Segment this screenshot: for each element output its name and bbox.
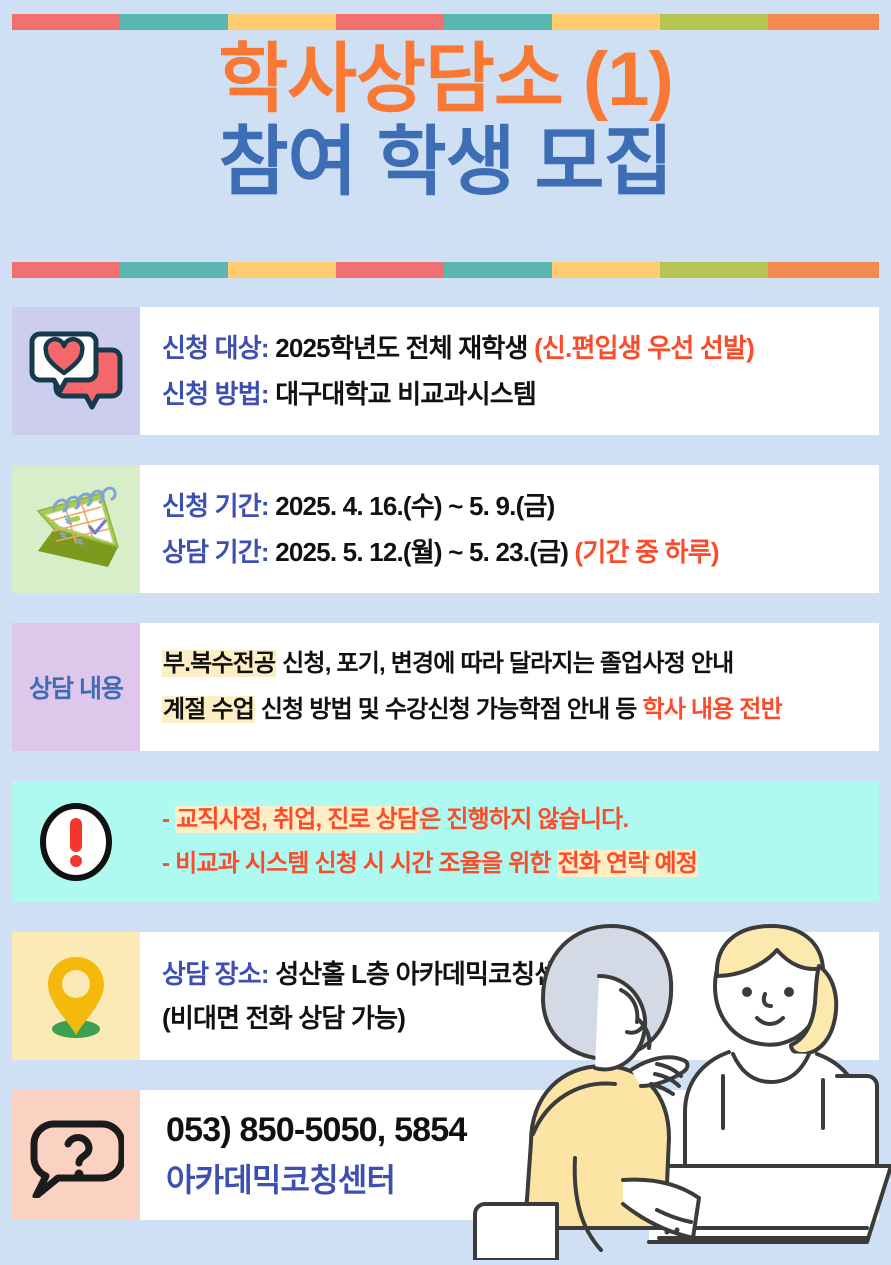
apply-period-value: 2025. 4. 16.(수) ~ 5. 9.(금) (269, 491, 555, 521)
application-target-label: 신청 대상: (162, 333, 269, 363)
consult-period-label: 상담 기간: (162, 537, 269, 567)
notice-line-1-rest: 은 진행하지 않습니다. (419, 806, 628, 833)
topic-line-2-note: 학사 내용 전반 (642, 696, 781, 723)
stripe-segment-6 (552, 262, 660, 278)
application-method-value: 대구대학교 비교과시스템 (269, 379, 536, 409)
info-row-notice: - 교직사정, 취업, 진로 상담은 진행하지 않습니다. - 비교과 시스템 … (12, 781, 879, 902)
notice-line-2-dash: - (162, 850, 175, 877)
application-content: 신청 대상: 2025학년도 전체 재학생 (신.편입생 우선 선발) 신청 방… (140, 307, 879, 435)
place-line-2: (비대면 전화 상담 가능) (162, 996, 879, 1040)
contact-center-name: 아카데믹코칭센터 (166, 1155, 879, 1205)
stripe-segment-2 (120, 262, 228, 278)
application-target-note: (신.편입생 우선 선발) (534, 333, 754, 363)
stripe-segment-5 (444, 262, 552, 278)
contact-content: 053) 850-5050, 5854 아카데믹코칭센터 (140, 1090, 879, 1220)
apply-period-line: 신청 기간: 2025. 4. 16.(수) ~ 5. 9.(금) (162, 483, 879, 529)
info-row-period: 신청 기간: 2025. 4. 16.(수) ~ 5. 9.(금) 상담 기간:… (12, 465, 879, 593)
notice-line-2-highlight: 전화 연락 예정 (557, 850, 698, 877)
stripe-segment-4 (336, 262, 444, 278)
title-line-1: 학사상담소 (1) (0, 40, 891, 119)
stripe-segment-3 (228, 262, 336, 278)
topic-line-2-highlight: 계절 수업 (162, 696, 255, 723)
notice-line-2-rest: 비교과 시스템 신청 시 시간 조율을 위한 (175, 850, 557, 877)
notice-line-1: - 교직사정, 취업, 진로 상담은 진행하지 않습니다. (162, 798, 879, 842)
consult-period-note: (기간 중 하루) (575, 537, 719, 567)
decorative-stripe-bottom (12, 262, 879, 278)
info-row-place: 상담 장소: 성산홀 L층 아카데믹코칭센터 (비대면 전화 상담 가능) (12, 932, 879, 1060)
topic-label: 상담 내용 (12, 623, 140, 751)
info-row-contact: 053) 850-5050, 5854 아카데믹코칭센터 (12, 1090, 879, 1220)
info-row-topic: 상담 내용 부.복수전공 신청, 포기, 변경에 따라 달라지는 졸업사정 안내… (12, 623, 879, 751)
consult-period-line: 상담 기간: 2025. 5. 12.(월) ~ 5. 23.(금) (기간 중… (162, 529, 879, 575)
contact-phone[interactable]: 053) 850-5050, 5854 (166, 1105, 879, 1155)
stripe-segment-4 (336, 14, 444, 30)
place-label: 상담 장소: (162, 959, 269, 989)
topic-line-1-highlight: 부.복수전공 (162, 650, 276, 677)
question-chat-icon (12, 1090, 140, 1220)
stripe-segment-8 (768, 262, 879, 278)
place-value: 성산홀 L층 아카데믹코칭센터 (269, 959, 581, 989)
notice-content: - 교직사정, 취업, 진로 상담은 진행하지 않습니다. - 비교과 시스템 … (140, 781, 879, 902)
stripe-segment-3 (228, 14, 336, 30)
apply-period-label: 신청 기간: (162, 491, 269, 521)
notice-line-1-highlight: 교직사정, 취업, 진로 상담 (175, 806, 419, 833)
stripe-segment-7 (660, 14, 768, 30)
stripe-segment-2 (120, 14, 228, 30)
period-content: 신청 기간: 2025. 4. 16.(수) ~ 5. 9.(금) 상담 기간:… (140, 465, 879, 593)
stripe-segment-7 (660, 262, 768, 278)
application-target-value: 2025학년도 전체 재학생 (269, 333, 534, 363)
chat-heart-icon (12, 307, 140, 435)
application-target-line: 신청 대상: 2025학년도 전체 재학생 (신.편입생 우선 선발) (162, 325, 879, 371)
application-method-line: 신청 방법: 대구대학교 비교과시스템 (162, 371, 879, 417)
stripe-segment-1 (12, 14, 120, 30)
stripe-segment-6 (552, 14, 660, 30)
topic-line-2-rest: 신청 방법 및 수강신청 가능학점 안내 등 (255, 696, 642, 723)
location-pin-icon (12, 932, 140, 1060)
stripe-segment-8 (768, 14, 879, 30)
notice-line-1-dash: - (162, 806, 175, 833)
consult-period-value: 2025. 5. 12.(월) ~ 5. 23.(금) (269, 537, 575, 567)
page-title: 학사상담소 (1) 참여 학생 모집 (0, 40, 891, 202)
title-line-2: 참여 학생 모집 (0, 123, 891, 202)
place-line-1: 상담 장소: 성산홀 L층 아카데믹코칭센터 (162, 952, 879, 996)
info-row-application: 신청 대상: 2025학년도 전체 재학생 (신.편입생 우선 선발) 신청 방… (12, 307, 879, 435)
decorative-stripe-top (12, 14, 879, 30)
poster-root: 학사상담소 (1) 참여 학생 모집 신청 대상: 2025학년도 전체 재학생… (0, 0, 891, 1260)
place-content: 상담 장소: 성산홀 L층 아카데믹코칭센터 (비대면 전화 상담 가능) (140, 932, 879, 1060)
topic-content: 부.복수전공 신청, 포기, 변경에 따라 달라지는 졸업사정 안내 계절 수업… (140, 623, 879, 751)
stripe-segment-1 (12, 262, 120, 278)
topic-line-1: 부.복수전공 신청, 포기, 변경에 따라 달라지는 졸업사정 안내 (162, 641, 879, 687)
topic-line-2: 계절 수업 신청 방법 및 수강신청 가능학점 안내 등 학사 내용 전반 (162, 687, 879, 733)
calendar-icon (12, 465, 140, 593)
application-method-label: 신청 방법: (162, 379, 269, 409)
topic-line-1-rest: 신청, 포기, 변경에 따라 달라지는 졸업사정 안내 (276, 650, 733, 677)
notice-line-2: - 비교과 시스템 신청 시 시간 조율을 위한 전화 연락 예정 (162, 842, 879, 886)
stripe-segment-5 (444, 14, 552, 30)
exclamation-circle-icon (12, 781, 140, 902)
